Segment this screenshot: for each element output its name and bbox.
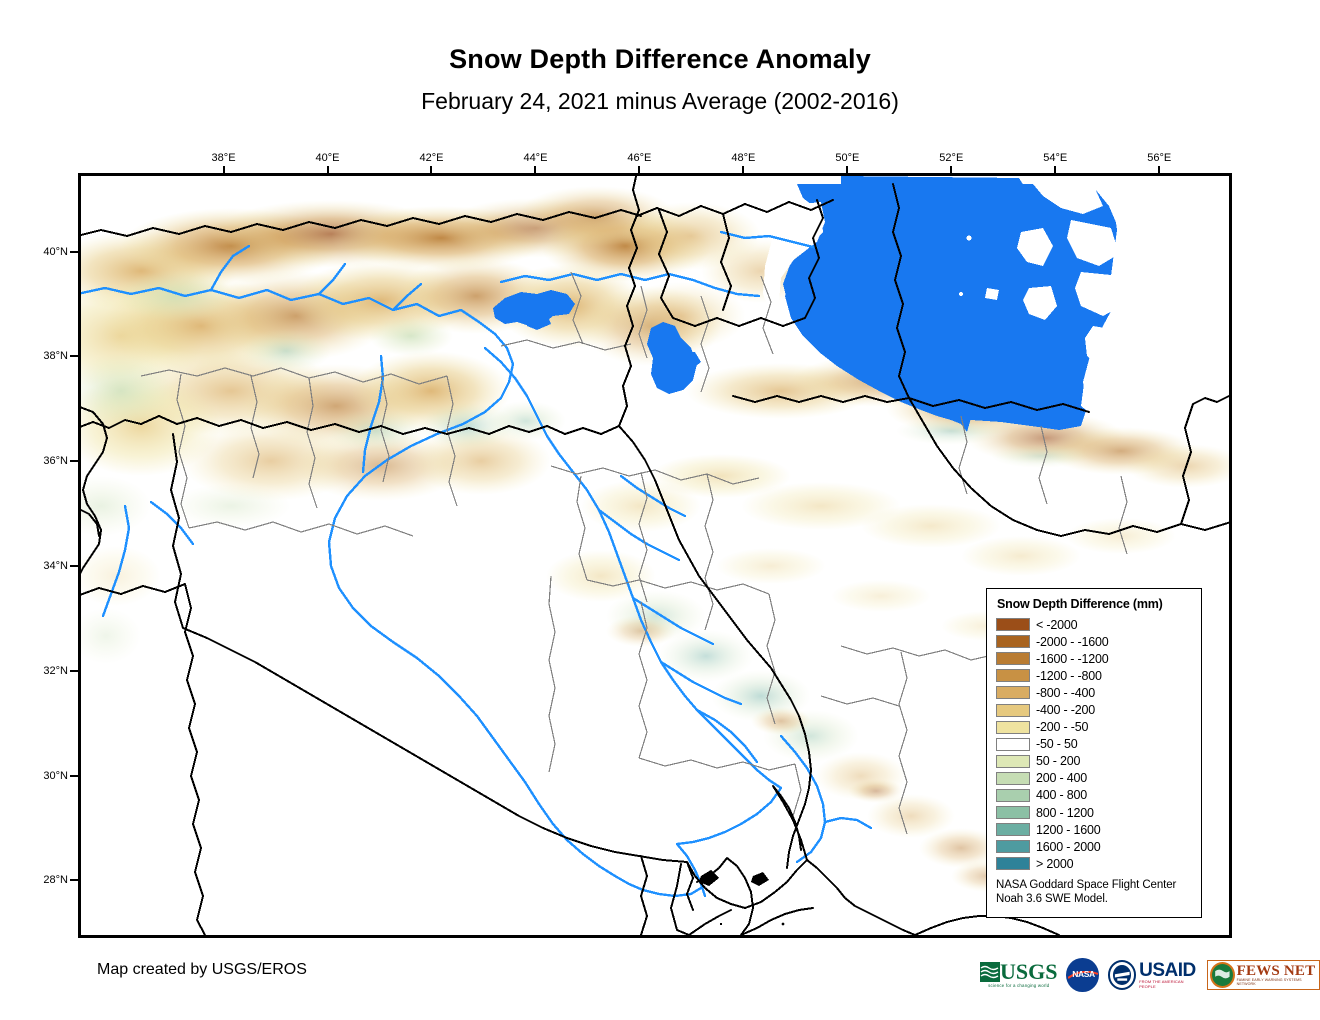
legend-class-label: > 2000 xyxy=(1036,857,1073,871)
legend-class-label: 1600 - 2000 xyxy=(1036,840,1101,854)
map-legend: Snow Depth Difference (mm) < -2000-2000 … xyxy=(986,588,1202,918)
legend-color-swatch xyxy=(996,789,1030,802)
page-subtitle: February 24, 2021 minus Average (2002-20… xyxy=(0,88,1320,115)
usaid-logo[interactable]: USAID FROM THE AMERICAN PEOPLE xyxy=(1108,960,1198,990)
usgs-tagline: science for a changing world xyxy=(988,983,1049,988)
legend-class-list: < -2000-2000 - -1600-1600 - -1200-1200 -… xyxy=(996,616,1192,872)
lat-tick-label: 34°N xyxy=(26,560,68,572)
legend-class-row: -800 - -400 xyxy=(996,684,1192,701)
fews-globe-continents xyxy=(1212,964,1233,985)
nasa-logo[interactable]: NASA xyxy=(1066,958,1098,992)
legend-color-swatch xyxy=(996,823,1030,836)
legend-note-line1: NASA Goddard Space Flight Center xyxy=(996,879,1192,893)
legend-class-label: -400 - -200 xyxy=(1036,703,1095,717)
legend-class-label: -1200 - -800 xyxy=(1036,669,1102,683)
legend-class-label: 50 - 200 xyxy=(1036,754,1080,768)
lat-tick-label: 36°N xyxy=(26,455,68,467)
legend-class-row: -1600 - -1200 xyxy=(996,650,1192,667)
legend-color-swatch xyxy=(996,772,1030,785)
legend-color-swatch xyxy=(996,806,1030,819)
legend-class-label: < -2000 xyxy=(1036,618,1077,632)
lat-tick-label: 30°N xyxy=(26,770,68,782)
legend-class-label: 1200 - 1600 xyxy=(1036,823,1101,837)
fewsnet-logo[interactable]: FEWS NET FAMINE EARLY WARNING SYSTEMS NE… xyxy=(1207,960,1320,990)
legend-note-line2: Noah 3.6 SWE Model. xyxy=(996,893,1192,907)
usaid-tagline: FROM THE AMERICAN PEOPLE xyxy=(1139,979,1198,989)
legend-color-swatch xyxy=(996,652,1030,665)
legend-color-swatch xyxy=(996,704,1030,717)
lon-tick-label: 40°E xyxy=(316,152,340,164)
usgs-wordmark: USGS xyxy=(1000,962,1057,982)
legend-color-swatch xyxy=(996,669,1030,682)
legend-class-row: 800 - 1200 xyxy=(996,804,1192,821)
legend-class-label: -800 - -400 xyxy=(1036,686,1095,700)
legend-class-row: 50 - 200 xyxy=(996,753,1192,770)
legend-title: Snow Depth Difference (mm) xyxy=(997,597,1192,611)
lon-tick-label: 42°E xyxy=(419,152,443,164)
agency-logos: USGS science for a changing world NASA U… xyxy=(980,957,1320,993)
lon-tick-label: 54°E xyxy=(1043,152,1067,164)
legend-color-swatch xyxy=(996,618,1030,631)
legend-class-label: 200 - 400 xyxy=(1036,771,1087,785)
legend-class-row: -2000 - -1600 xyxy=(996,633,1192,650)
legend-class-label: -1600 - -1200 xyxy=(1036,652,1108,666)
lat-tick-label: 28°N xyxy=(26,874,68,886)
legend-class-row: < -2000 xyxy=(996,616,1192,633)
legend-class-row: 1200 - 1600 xyxy=(996,821,1192,838)
lat-tick-label: 40°N xyxy=(26,246,68,258)
nasa-wordmark: NASA xyxy=(1066,969,1098,979)
legend-color-swatch xyxy=(996,738,1030,751)
legend-color-swatch xyxy=(996,755,1030,768)
legend-class-label: -50 - 50 xyxy=(1036,737,1077,751)
legend-class-row: 400 - 800 xyxy=(996,787,1192,804)
usaid-seal-icon xyxy=(1108,960,1136,990)
legend-class-label: 400 - 800 xyxy=(1036,788,1087,802)
usaid-seal-emblem xyxy=(1110,962,1134,986)
legend-class-row: -400 - -200 xyxy=(996,701,1192,718)
legend-color-swatch xyxy=(996,686,1030,699)
legend-source-note: NASA Goddard Space Flight Center Noah 3.… xyxy=(996,879,1192,906)
usgs-logo[interactable]: USGS science for a changing world xyxy=(980,962,1057,988)
legend-class-row: -50 - 50 xyxy=(996,736,1192,753)
lon-tick-label: 38°E xyxy=(212,152,236,164)
lat-tick-label: 38°N xyxy=(26,350,68,362)
page-title: Snow Depth Difference Anomaly xyxy=(0,44,1320,75)
legend-class-label: -2000 - -1600 xyxy=(1036,635,1108,649)
legend-color-swatch xyxy=(996,857,1030,870)
legend-class-row: 1600 - 2000 xyxy=(996,838,1192,855)
map-credit: Map created by USGS/EROS xyxy=(97,961,307,979)
lon-tick-label: 56°E xyxy=(1147,152,1171,164)
fews-globe-icon xyxy=(1210,962,1235,988)
legend-class-row: 200 - 400 xyxy=(996,770,1192,787)
legend-class-label: 800 - 1200 xyxy=(1036,806,1094,820)
lon-tick-label: 44°E xyxy=(523,152,547,164)
lon-tick-label: 46°E xyxy=(627,152,651,164)
lon-tick-label: 52°E xyxy=(939,152,963,164)
lon-tick-label: 50°E xyxy=(835,152,859,164)
lon-tick-label: 48°E xyxy=(731,152,755,164)
legend-color-swatch xyxy=(996,635,1030,648)
legend-class-label: -200 - -50 xyxy=(1036,720,1088,734)
usgs-wave-icon xyxy=(980,962,1000,982)
legend-color-swatch xyxy=(996,840,1030,853)
legend-color-swatch xyxy=(996,721,1030,734)
legend-class-row: -1200 - -800 xyxy=(996,667,1192,684)
legend-class-row: -200 - -50 xyxy=(996,719,1192,736)
usaid-wordmark: USAID xyxy=(1139,962,1198,979)
lat-tick-label: 32°N xyxy=(26,665,68,677)
fews-wordmark: FEWS NET xyxy=(1237,964,1317,978)
legend-class-row: > 2000 xyxy=(996,855,1192,872)
fews-tagline: FAMINE EARLY WARNING SYSTEMS NETWORK xyxy=(1237,978,1317,986)
